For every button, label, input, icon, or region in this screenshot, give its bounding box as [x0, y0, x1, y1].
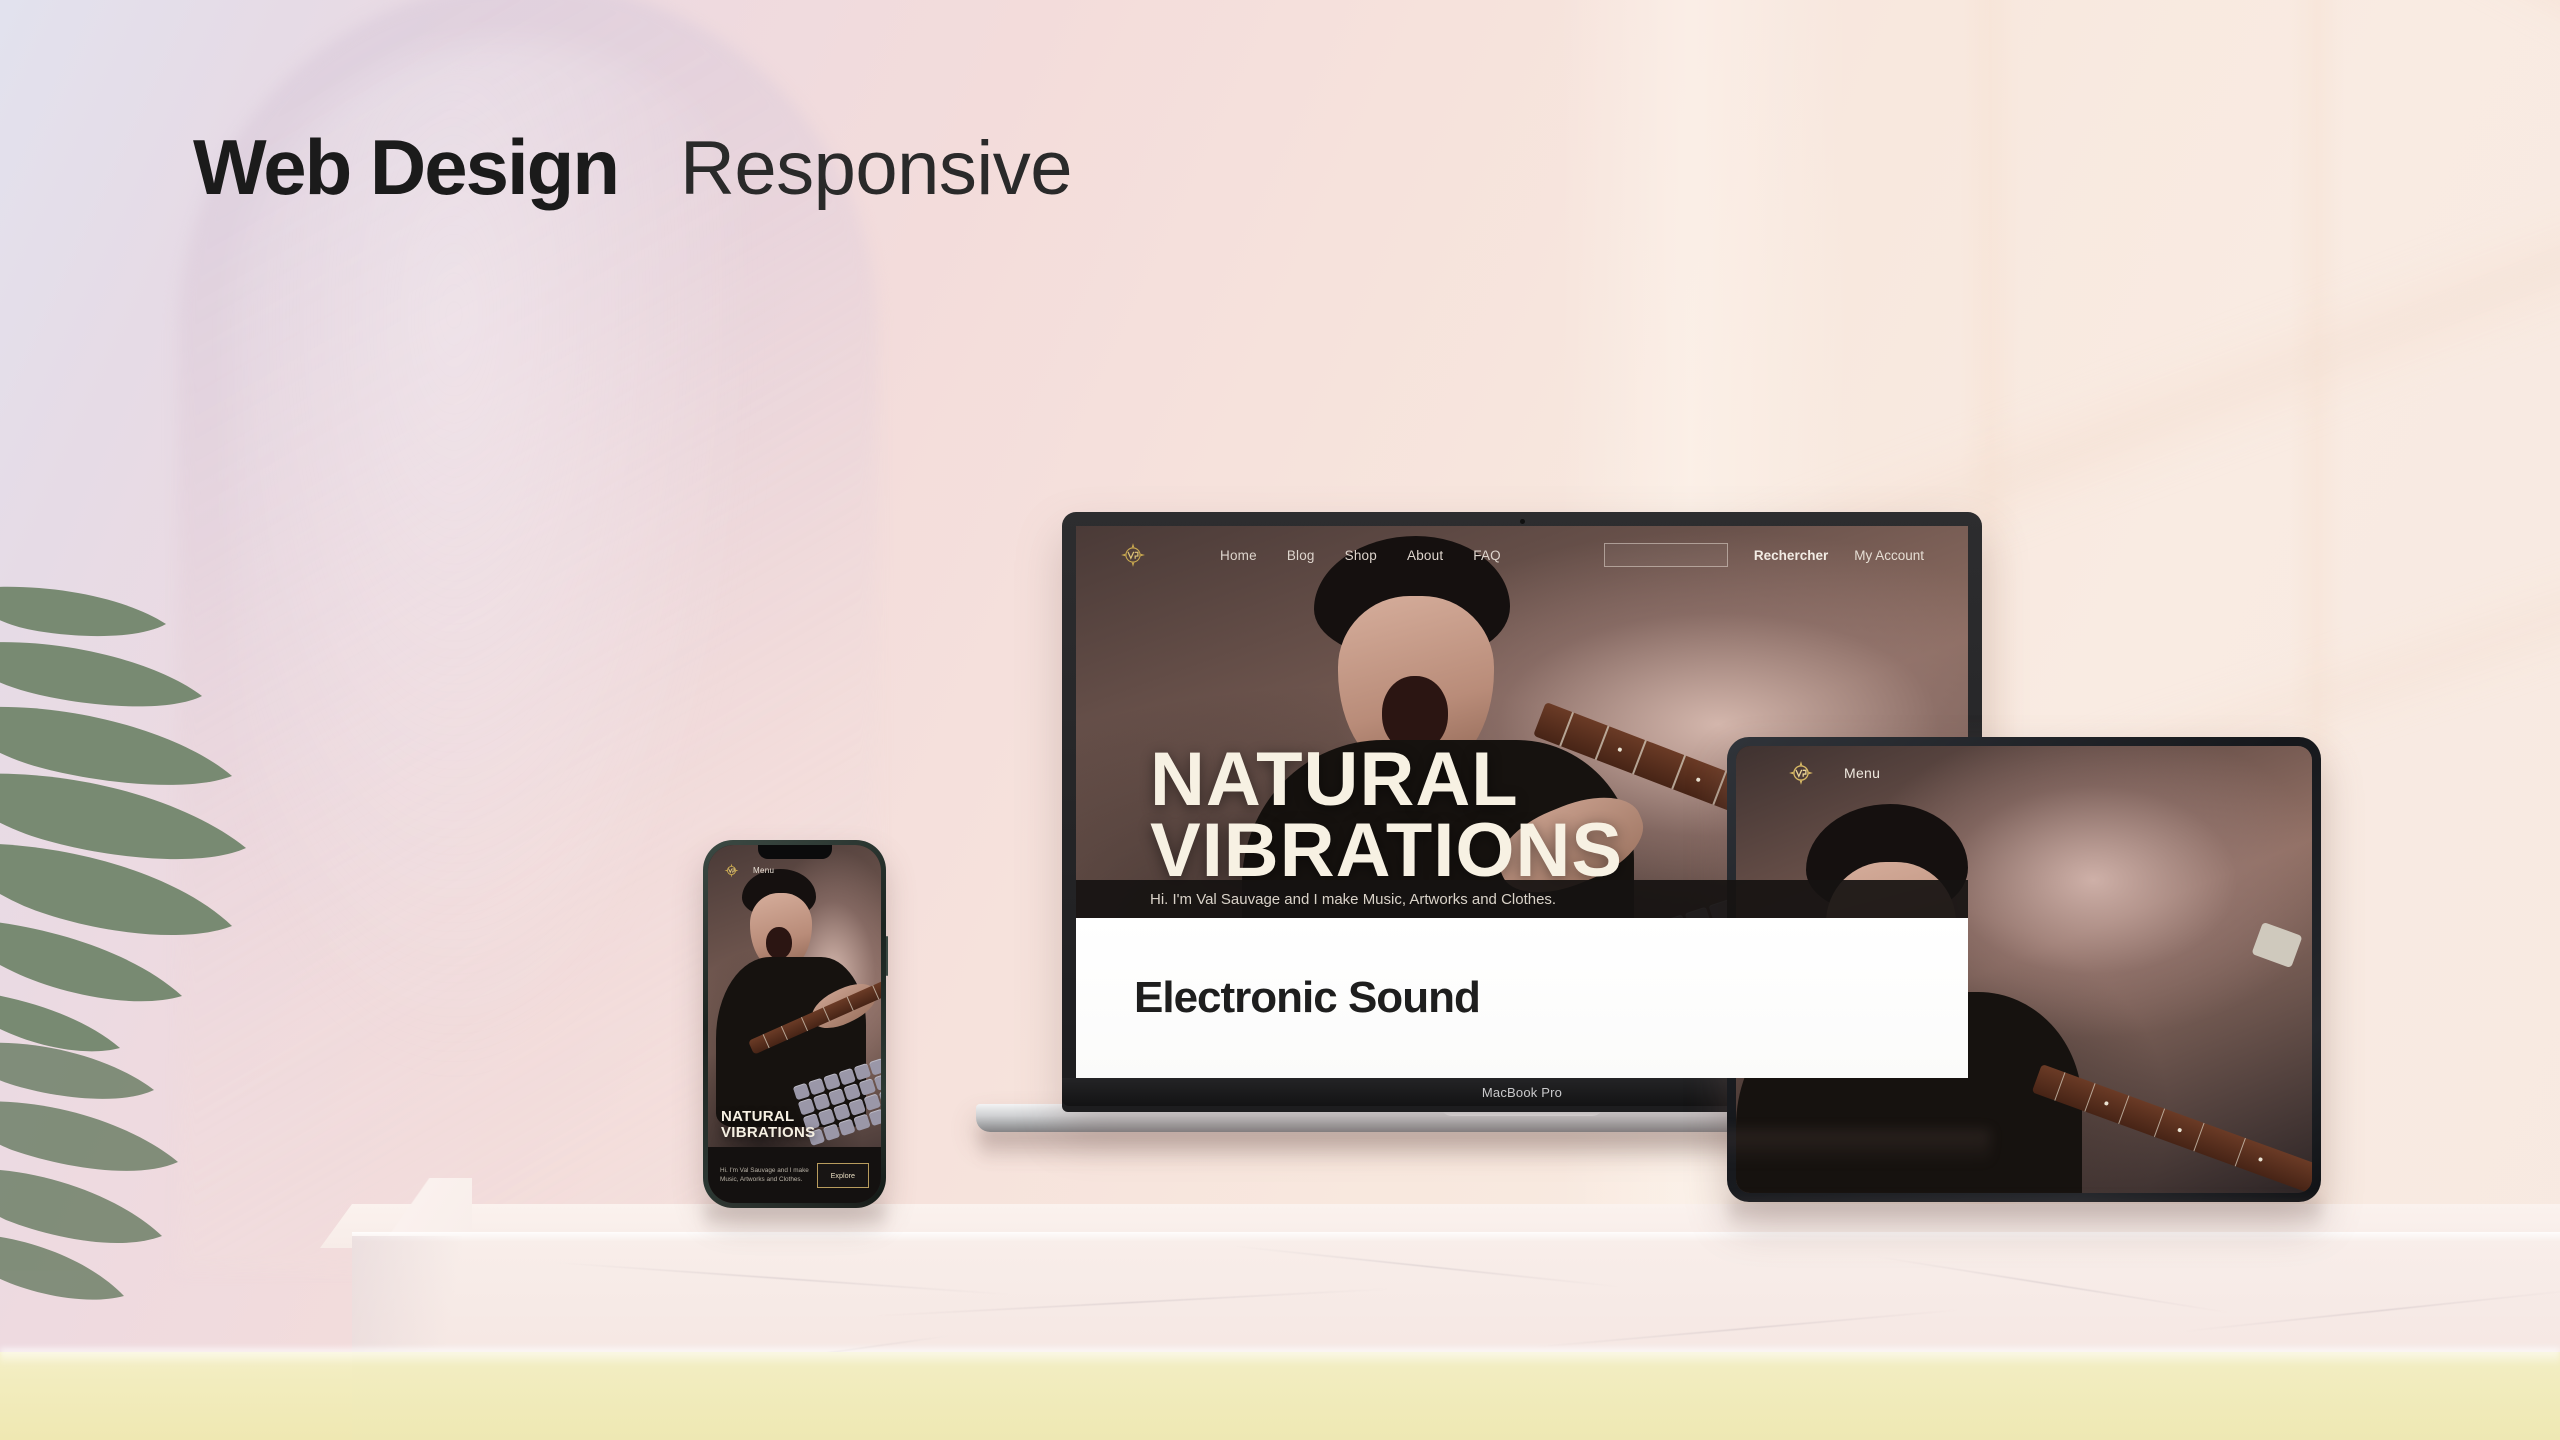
nav-links: Home Blog Shop About FAQ: [1220, 548, 1501, 563]
hero-subtitle: Hi. I'm Val Sauvage and I make Music, Ar…: [720, 1166, 812, 1185]
my-account-link[interactable]: My Account: [1854, 548, 1924, 563]
nav-link-home[interactable]: Home: [1220, 548, 1257, 563]
hero-subtitle-bar: Hi. I'm Val Sauvage and I make Music, Ar…: [1076, 880, 1968, 918]
menu-button[interactable]: Menu: [1844, 765, 1880, 781]
headline-bold: Web Design: [193, 128, 618, 206]
hero-title: NATURAL VIBRATIONS: [1150, 745, 1623, 886]
vs-compass-logo-icon[interactable]: [1120, 542, 1146, 568]
webcam-icon: [1520, 519, 1525, 524]
hero-subtitle: Hi. I'm Val Sauvage and I make Music, Ar…: [1150, 891, 1556, 908]
search-submit-button[interactable]: Rechercher: [1754, 548, 1828, 563]
section-electronic-sound: Electronic Sound: [1076, 918, 1968, 1078]
hero-title-line1: NATURAL: [721, 1109, 815, 1125]
phone-frame: Menu NATURAL VIBRATIONS Hi. I'm Val Sauv…: [703, 840, 886, 1208]
phone-side-button[interactable]: [886, 936, 888, 976]
page-title: Web Design Responsive: [193, 128, 1072, 207]
floor-highlight: [0, 1348, 2560, 1366]
nav-link-shop[interactable]: Shop: [1345, 548, 1377, 563]
phone-screen: Menu NATURAL VIBRATIONS Hi. I'm Val Sauv…: [708, 845, 881, 1203]
nav-link-blog[interactable]: Blog: [1287, 548, 1315, 563]
nav-link-faq[interactable]: FAQ: [1473, 548, 1501, 563]
vs-compass-logo-icon[interactable]: [724, 863, 739, 878]
hero-title-line2: VIBRATIONS: [1150, 816, 1623, 887]
phone-device: Menu NATURAL VIBRATIONS Hi. I'm Val Sauv…: [703, 840, 886, 1208]
nav-link-about[interactable]: About: [1407, 548, 1443, 563]
device-label-macbook: MacBook Pro: [1482, 1085, 1562, 1100]
explore-button[interactable]: Explore: [817, 1163, 869, 1188]
section-heading: Electronic Sound: [1134, 973, 1480, 1023]
hero-title-line1: NATURAL: [1150, 745, 1623, 816]
navbar-right: Rechercher My Account: [1604, 543, 1924, 567]
monstera-leaves-icon: [0, 580, 300, 1300]
tablet-navbar: Menu: [1736, 746, 2312, 800]
site-navbar: Home Blog Shop About FAQ Rechercher My A…: [1076, 526, 1968, 584]
monstera-plant: [0, 580, 300, 1300]
search-input[interactable]: [1604, 543, 1728, 567]
headline-light: Responsive: [680, 131, 1072, 207]
menu-button[interactable]: Menu: [753, 866, 774, 875]
phone-navbar: Menu: [708, 859, 881, 881]
hero-title-line2: VIBRATIONS: [721, 1125, 815, 1141]
hero-title: NATURAL VIBRATIONS: [721, 1109, 815, 1141]
phone-bottom-bar: Hi. I'm Val Sauvage and I make Music, Ar…: [708, 1147, 881, 1203]
vs-compass-logo-icon[interactable]: [1788, 760, 1814, 786]
mockup-scene: Web Design Responsive: [0, 0, 2560, 1440]
phone-notch: [758, 845, 832, 859]
